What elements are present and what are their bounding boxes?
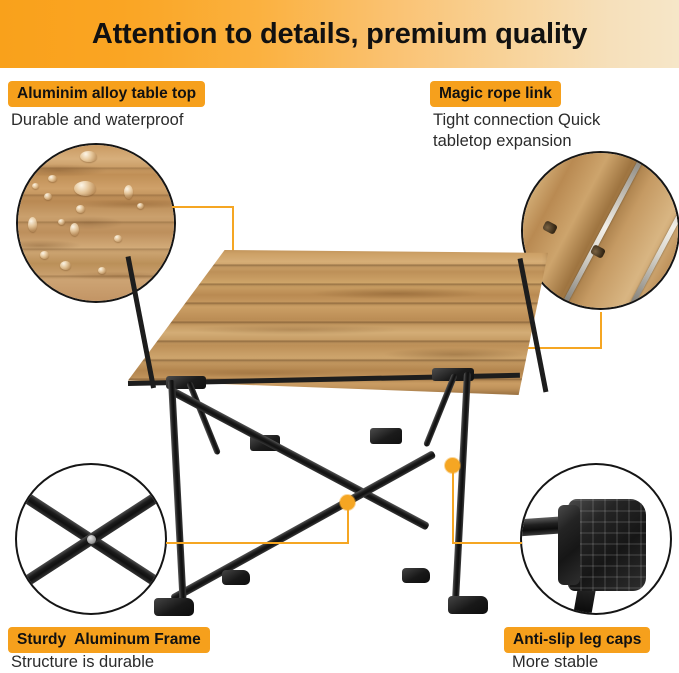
description-anti-slip-leg-caps: More stable bbox=[512, 652, 598, 673]
anti-slip-foot bbox=[154, 598, 194, 616]
water-droplet-icon bbox=[74, 181, 96, 196]
water-droplet-icon bbox=[48, 175, 57, 182]
page-title: Attention to details, premium quality bbox=[0, 0, 679, 68]
callout-line-magic-rope-link bbox=[600, 312, 602, 348]
water-droplet-icon bbox=[44, 193, 52, 200]
badge-anti-slip-leg-caps: Anti-slip leg caps bbox=[504, 627, 650, 653]
anti-slip-cap-collar bbox=[558, 505, 580, 585]
water-droplet-icon bbox=[124, 185, 133, 199]
description-sturdy-aluminum-frame: Structure is durable bbox=[11, 652, 154, 673]
callout-line-aluminum-frame bbox=[347, 502, 349, 544]
callout-line-anti-slip-leg-caps bbox=[452, 542, 522, 544]
badge-magic-rope-link: Magic rope link bbox=[430, 81, 561, 107]
table-leg-front-left bbox=[168, 380, 187, 608]
table-leg-front-right bbox=[452, 372, 471, 608]
anti-slip-foot bbox=[448, 596, 488, 614]
detail-circle-aluminum-frame bbox=[15, 463, 167, 615]
product-infographic: Attention to details, premium quality Al… bbox=[0, 0, 679, 673]
anti-slip-foot bbox=[402, 568, 430, 583]
water-droplet-icon bbox=[70, 223, 79, 236]
water-droplet-icon bbox=[58, 219, 65, 225]
frame-cross-brace-left bbox=[170, 387, 430, 530]
water-droplet-icon bbox=[80, 151, 97, 162]
cross-brace-pivot bbox=[87, 535, 96, 544]
frame-bracket bbox=[370, 428, 402, 444]
description-magic-rope-link: Tight connection Quick tabletop expansio… bbox=[433, 110, 600, 152]
water-droplet-icon bbox=[28, 217, 37, 232]
water-droplet-icon bbox=[76, 205, 85, 213]
callout-line-table-top bbox=[172, 206, 234, 208]
water-droplet-icon bbox=[137, 203, 144, 209]
anti-slip-foot bbox=[222, 570, 250, 585]
description-aluminium-alloy-table-top: Durable and waterproof bbox=[11, 110, 183, 131]
badge-aluminium-alloy-table-top: Aluminim alloy table top bbox=[8, 81, 205, 107]
water-droplet-icon bbox=[40, 251, 49, 259]
callout-line-anti-slip-leg-caps bbox=[452, 465, 454, 544]
water-droplet-icon bbox=[60, 261, 71, 270]
frame-cross-brace-right bbox=[170, 450, 436, 602]
water-droplet-icon bbox=[32, 183, 39, 189]
detail-circle-anti-slip-leg-cap bbox=[520, 463, 672, 615]
callout-line-aluminum-frame bbox=[166, 542, 349, 544]
badge-sturdy-aluminum-frame: Sturdy Aluminum Frame bbox=[8, 627, 210, 653]
